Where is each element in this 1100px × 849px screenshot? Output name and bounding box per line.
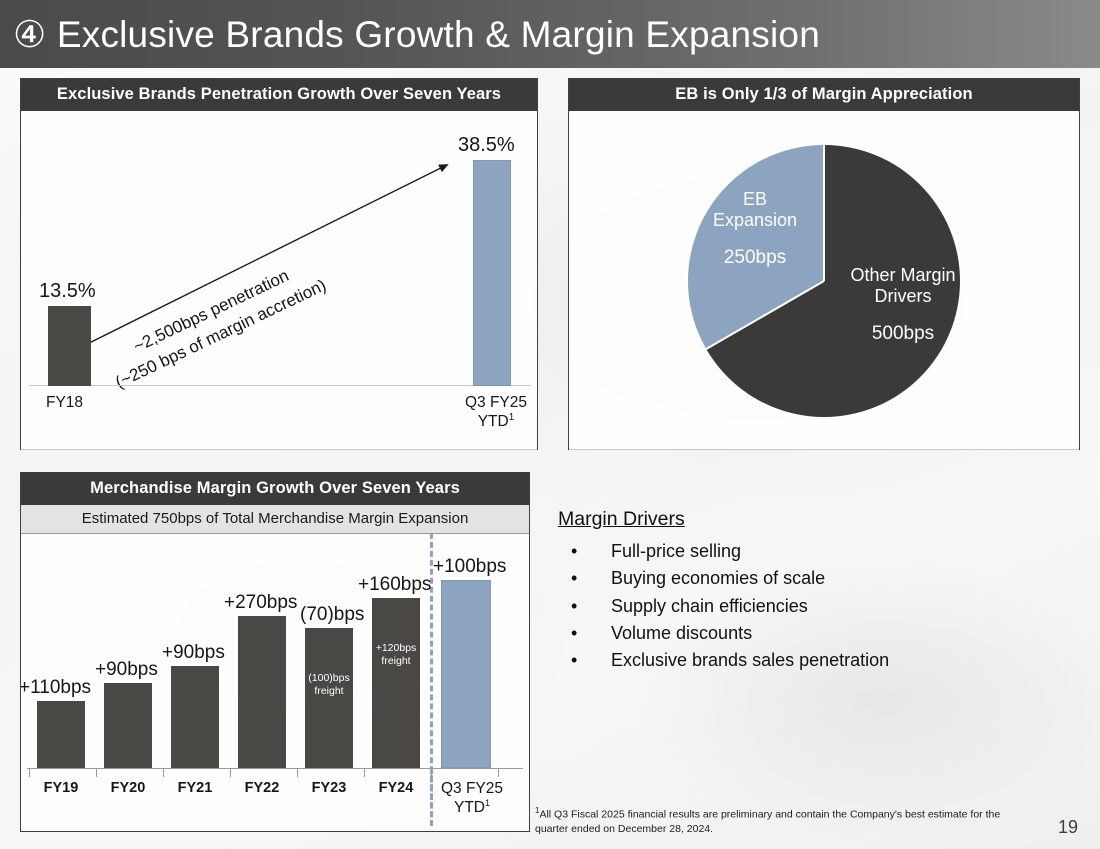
bullet-icon: •	[571, 538, 577, 565]
axis-tick	[96, 769, 97, 777]
margin-bar-fy19	[37, 701, 85, 768]
merchandise-margin-axis-line	[27, 768, 523, 769]
bullet-icon: •	[571, 565, 577, 592]
bullet-icon: •	[571, 620, 577, 647]
margin-bar-fy20	[104, 683, 152, 768]
list-item: •Supply chain efficiencies	[558, 593, 1058, 620]
margin-bar-fy23-inner-line2: freight	[314, 685, 343, 697]
list-item: •Full-price selling	[558, 538, 1058, 565]
margin-value-q3-fy25: +100bps	[433, 556, 506, 578]
pie-slice-other-line2: Drivers	[875, 286, 932, 306]
axis-tick	[29, 769, 30, 777]
margin-category-q3-fy25: Q3 FY25 YTD1	[433, 779, 511, 818]
margin-bar-fy24	[372, 598, 420, 768]
margin-bar-fy21	[171, 666, 219, 768]
margin-bar-fy23	[305, 628, 353, 768]
margin-driver-item-3: Supply chain efficiencies	[611, 596, 808, 616]
page-number: 19	[1058, 817, 1078, 838]
margin-value-fy19: +110bps	[21, 677, 91, 699]
margin-category-fy19: FY19	[37, 780, 85, 796]
penetration-category-q3-fy25: Q3 FY25YTD1	[451, 393, 537, 432]
merchandise-margin-chart-panel: Merchandise Margin Growth Over Seven Yea…	[20, 472, 530, 832]
margin-bar-fy23-inner-line1: (100)bps	[308, 672, 349, 684]
slide: ④ Exclusive Brands Growth & Margin Expan…	[0, 0, 1100, 849]
margin-driver-item-2: Buying economies of scale	[611, 568, 825, 588]
penetration-axis-line	[29, 385, 531, 386]
penetration-bar-q3-fy25	[473, 160, 511, 386]
margin-category-fy23: FY23	[305, 780, 353, 796]
pie-chart-panel: EB is Only 1/3 of Margin Appreciation EB…	[568, 78, 1080, 450]
margin-bar-q3-fy25	[441, 580, 491, 768]
margin-category-fy24: FY24	[372, 780, 420, 796]
pie-plot-area: EB Expansion 250bps Other Margin Drivers…	[569, 111, 1079, 450]
pie-slice-other-line1: Other Margin	[850, 265, 955, 285]
list-item: •Volume discounts	[558, 620, 1058, 647]
margin-category-fy22: FY22	[238, 780, 286, 796]
penetration-value-q3-fy25: 38.5%	[458, 134, 515, 157]
list-item: •Buying economies of scale	[558, 565, 1058, 592]
margin-category-q3-line1: Q3 FY25	[441, 780, 503, 797]
margin-value-fy23: (70)bps	[300, 604, 364, 626]
penetration-category-q3-line1: Q3 FY25	[465, 394, 527, 411]
pie-slice-eb-value: 250bps	[680, 246, 830, 269]
footnote: 1All Q3 Fiscal 2025 financial results ar…	[535, 806, 1035, 836]
margin-bar-fy24-inner-line2: freight	[381, 655, 410, 667]
penetration-bar-fy18	[48, 306, 91, 386]
margin-value-fy21: +90bps	[162, 642, 225, 664]
margin-driver-item-4: Volume discounts	[611, 623, 752, 643]
margin-value-fy20: +90bps	[95, 659, 158, 681]
margin-category-fy20: FY20	[104, 780, 152, 796]
margin-drivers-block: Margin Drivers •Full-price selling •Buyi…	[558, 508, 1058, 675]
margin-bar-fy24-inner-line1: +120bps	[376, 642, 417, 654]
axis-tick	[498, 769, 499, 777]
pie-slice-other-value: 500bps	[823, 322, 983, 345]
penetration-plot-area: ~2,500bps penetration (~250 bps of margi…	[21, 111, 537, 450]
margin-driver-item-1: Full-price selling	[611, 541, 741, 561]
margin-driver-item-5: Exclusive brands sales penetration	[611, 650, 889, 670]
penetration-category-q3-line2: YTD	[478, 414, 509, 431]
bullet-icon: •	[571, 593, 577, 620]
pie-slice-eb-line1: EB	[743, 189, 767, 209]
margin-category-q3-footnote-marker: 1	[485, 798, 490, 808]
page-title-text: Exclusive Brands Growth & Margin Expansi…	[57, 14, 820, 55]
margin-bar-fy24-inner-label: +120bps freight	[372, 642, 420, 668]
margin-category-q3-line2: YTD	[454, 800, 485, 817]
forecast-divider-line-lower	[430, 768, 433, 826]
margin-drivers-heading: Margin Drivers	[558, 508, 1058, 531]
merchandise-margin-plot-area: (100)bps freight +120bps freight +110bps…	[21, 534, 529, 826]
merchandise-margin-chart-title: Merchandise Margin Growth Over Seven Yea…	[21, 473, 529, 505]
axis-tick	[364, 769, 365, 777]
pie-slice-label-other-margin-drivers: Other Margin Drivers 500bps	[823, 265, 983, 346]
page-title: ④ Exclusive Brands Growth & Margin Expan…	[13, 13, 820, 56]
slide-header: ④ Exclusive Brands Growth & Margin Expan…	[0, 0, 1100, 68]
margin-value-fy22: +270bps	[224, 592, 297, 614]
pie-slice-label-eb-expansion: EB Expansion 250bps	[680, 189, 830, 270]
margin-category-fy21: FY21	[171, 780, 219, 796]
pie-chart-title: EB is Only 1/3 of Margin Appreciation	[569, 79, 1079, 111]
axis-tick	[297, 769, 298, 777]
merchandise-margin-chart-subtitle: Estimated 750bps of Total Merchandise Ma…	[21, 505, 529, 534]
bullet-icon: •	[571, 647, 577, 674]
margin-bar-fy23-inner-label: (100)bps freight	[305, 672, 353, 698]
pie-slice-eb-line2: Expansion	[713, 210, 797, 230]
list-item: •Exclusive brands sales penetration	[558, 647, 1058, 674]
penetration-chart-title: Exclusive Brands Penetration Growth Over…	[21, 79, 537, 111]
footnote-text: All Q3 Fiscal 2025 financial results are…	[535, 809, 1000, 835]
pie-chart: EB Expansion 250bps Other Margin Drivers…	[688, 145, 960, 417]
penetration-chart-panel: Exclusive Brands Penetration Growth Over…	[20, 78, 538, 450]
penetration-category-q3-footnote-marker: 1	[509, 412, 515, 423]
penetration-category-fy18: FY18	[46, 394, 83, 412]
penetration-value-fy18: 13.5%	[39, 280, 96, 303]
margin-bar-fy22	[238, 616, 286, 768]
section-number: ④	[13, 14, 46, 55]
margin-drivers-list: •Full-price selling •Buying economies of…	[558, 538, 1058, 675]
margin-value-fy24: +160bps	[358, 574, 431, 596]
axis-tick	[163, 769, 164, 777]
axis-tick	[230, 769, 231, 777]
